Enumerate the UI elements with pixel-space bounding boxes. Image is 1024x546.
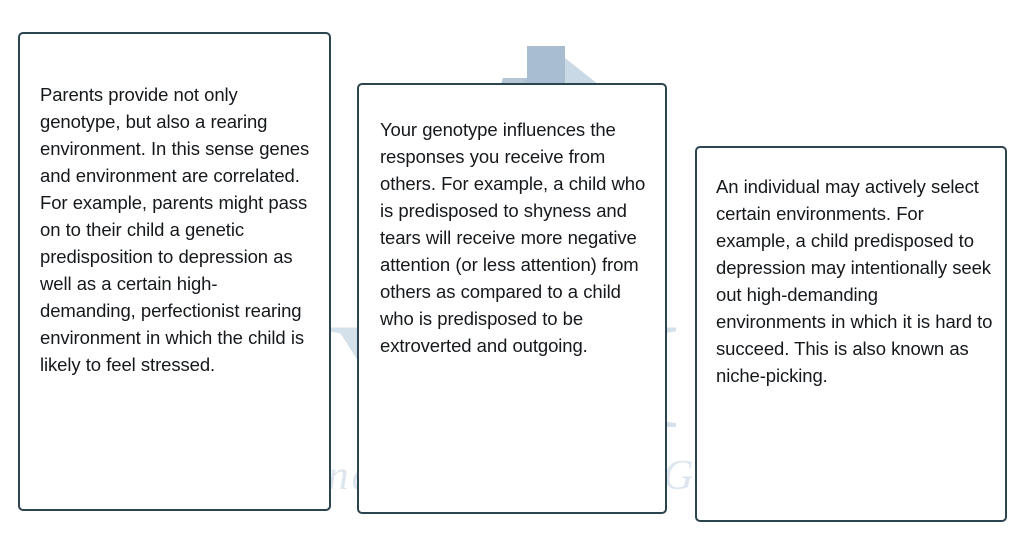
- concept-card-active-correlation: An individual may actively select certai…: [695, 146, 1007, 522]
- concept-card-text: An individual may actively select certai…: [697, 148, 1005, 389]
- concept-card-passive-correlation: Parents provide not only genotype, but a…: [18, 32, 331, 511]
- concept-card-evocative-correlation: Your genotype influences the responses y…: [357, 83, 667, 514]
- concept-card-text: Your genotype influences the responses y…: [359, 85, 665, 359]
- concept-card-text: Parents provide not only genotype, but a…: [20, 34, 329, 378]
- slide-canvas: TYCHE Friend, Philosopher, Guide Parents…: [0, 0, 1024, 546]
